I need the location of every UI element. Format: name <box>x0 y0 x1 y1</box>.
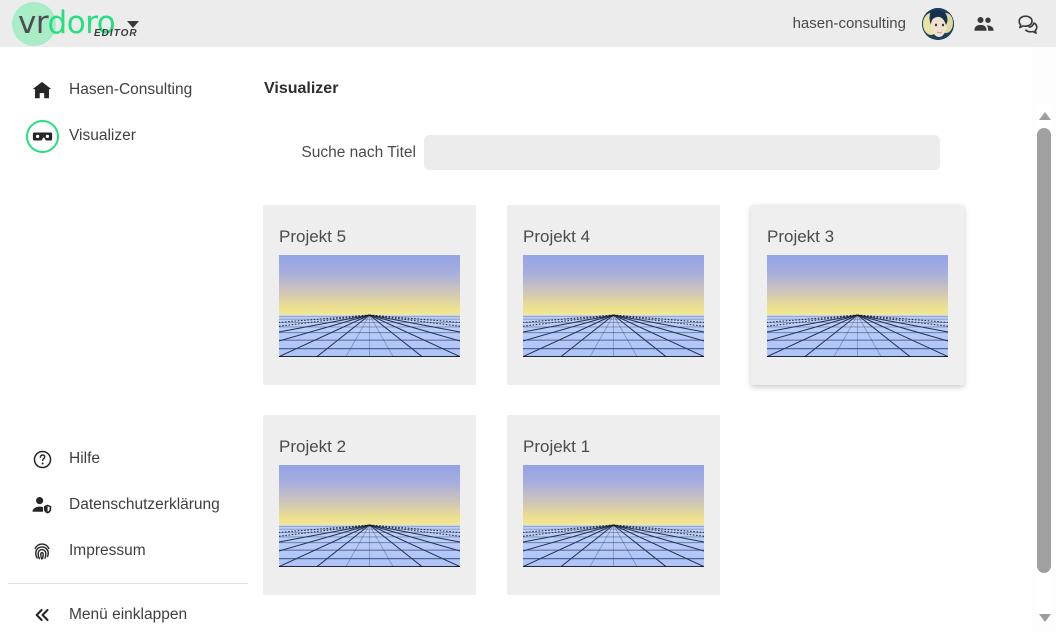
search-label: Suche nach Titel <box>256 144 424 162</box>
project-card-title: Projekt 3 <box>767 227 834 247</box>
top-header-bar: vrdoro EDITOR hasen-consulting <box>0 0 1056 47</box>
logo-subtitle-editor: EDITOR <box>94 28 138 39</box>
vr-cardboard-icon <box>24 120 60 153</box>
search-input[interactable] <box>424 135 940 170</box>
sidebar-item-impressum[interactable]: Impressum <box>0 528 256 574</box>
sidebar-item-hasen-consulting[interactable]: Hasen-Consulting <box>0 67 256 113</box>
avatar[interactable] <box>922 8 954 40</box>
chevron-down-icon[interactable] <box>127 21 139 28</box>
chevron-double-left-icon <box>24 604 60 626</box>
sidebar-bottom-nav: Hilfe Datenschutzerklärung <box>0 436 256 632</box>
collapse-menu-label: Menü einklappen <box>69 606 187 624</box>
project-card[interactable]: Projekt 2 <box>263 415 476 595</box>
page-title: Visualizer <box>264 80 338 98</box>
project-card[interactable]: Projekt 5 <box>263 205 476 385</box>
home-icon <box>24 79 60 101</box>
project-card[interactable]: Projekt 1 <box>507 415 720 595</box>
project-card-grid: Projekt 5Projekt 4Projekt 3Projekt 2Proj… <box>263 205 1023 595</box>
header-right-group: hasen-consulting <box>793 0 1042 47</box>
sidebar-item-label: Datenschutzerklärung <box>69 496 220 514</box>
project-card-title: Projekt 1 <box>523 437 590 457</box>
project-card-title: Projekt 4 <box>523 227 590 247</box>
project-thumbnail <box>523 465 704 567</box>
sidebar-top-nav: Hasen-Consulting Visualizer <box>0 67 256 159</box>
project-card[interactable]: Projekt 4 <box>507 205 720 385</box>
search-row: Suche nach Titel <box>256 135 956 170</box>
scroll-down-arrow-icon[interactable] <box>1039 614 1051 622</box>
privacy-person-shield-icon <box>24 494 60 516</box>
account-name-label: hasen-consulting <box>793 15 906 32</box>
app-root: vrdoro EDITOR hasen-consulting <box>0 0 1056 632</box>
project-card[interactable]: Projekt 3 <box>751 205 964 385</box>
project-thumbnail <box>523 255 704 357</box>
fingerprint-icon <box>24 540 60 562</box>
sidebar-item-label: Hasen-Consulting <box>69 81 192 99</box>
scrollbar-thumb[interactable] <box>1037 128 1051 573</box>
project-card-title: Projekt 2 <box>279 437 346 457</box>
sidebar-divider <box>8 583 248 584</box>
sidebar-item-hilfe[interactable]: Hilfe <box>0 436 256 482</box>
sidebar-item-datenschutzerklaerung[interactable]: Datenschutzerklärung <box>0 482 256 528</box>
collapse-menu-button[interactable]: Menü einklappen <box>0 592 256 632</box>
sidebar-item-label: Visualizer <box>69 127 136 145</box>
project-thumbnail <box>279 255 460 357</box>
sidebar: Hasen-Consulting Visualizer <box>0 47 256 632</box>
help-circle-icon <box>24 449 60 470</box>
project-card-title: Projekt 5 <box>279 227 346 247</box>
main-content: Visualizer Suche nach Titel Projekt 5Pro… <box>256 47 1032 632</box>
page-scrollbar[interactable] <box>1032 47 1056 632</box>
project-thumbnail <box>279 465 460 567</box>
logo-text-vr: vr <box>18 5 48 41</box>
sidebar-item-visualizer[interactable]: Visualizer <box>0 113 256 159</box>
chat-icon[interactable] <box>1014 10 1042 38</box>
app-logo[interactable]: vrdoro EDITOR <box>8 0 139 47</box>
sidebar-item-label: Impressum <box>69 542 146 560</box>
project-thumbnail <box>767 255 948 357</box>
sidebar-item-label: Hilfe <box>69 450 100 468</box>
people-icon[interactable] <box>970 10 998 38</box>
scroll-up-arrow-icon[interactable] <box>1039 112 1051 120</box>
